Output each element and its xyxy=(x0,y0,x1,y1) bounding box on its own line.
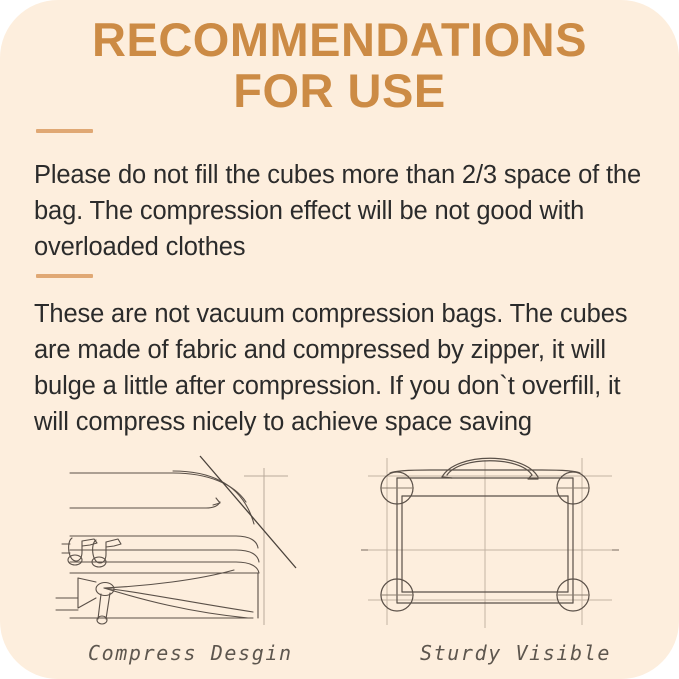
illustration-row xyxy=(0,440,679,640)
paragraph-not-vacuum: These are not vacuum compression bags. T… xyxy=(34,296,659,440)
recommendations-card: RECOMMENDATIONS FOR USE Please do not fi… xyxy=(0,0,679,679)
title-line-1: RECOMMENDATIONS xyxy=(0,14,679,65)
paragraph-fill-limit: Please do not fill the cubes more than 2… xyxy=(34,157,659,265)
divider-rule-1 xyxy=(36,129,93,133)
page-title: RECOMMENDATIONS FOR USE xyxy=(0,14,679,116)
title-line-2: FOR USE xyxy=(0,65,679,116)
sturdy-visible-illustration xyxy=(360,440,640,630)
caption-sturdy-visible: Sturdy Visible xyxy=(420,641,611,665)
divider-rule-2 xyxy=(36,274,93,278)
compress-design-illustration xyxy=(48,440,338,625)
caption-compress-design: Compress Desgin xyxy=(88,641,293,665)
